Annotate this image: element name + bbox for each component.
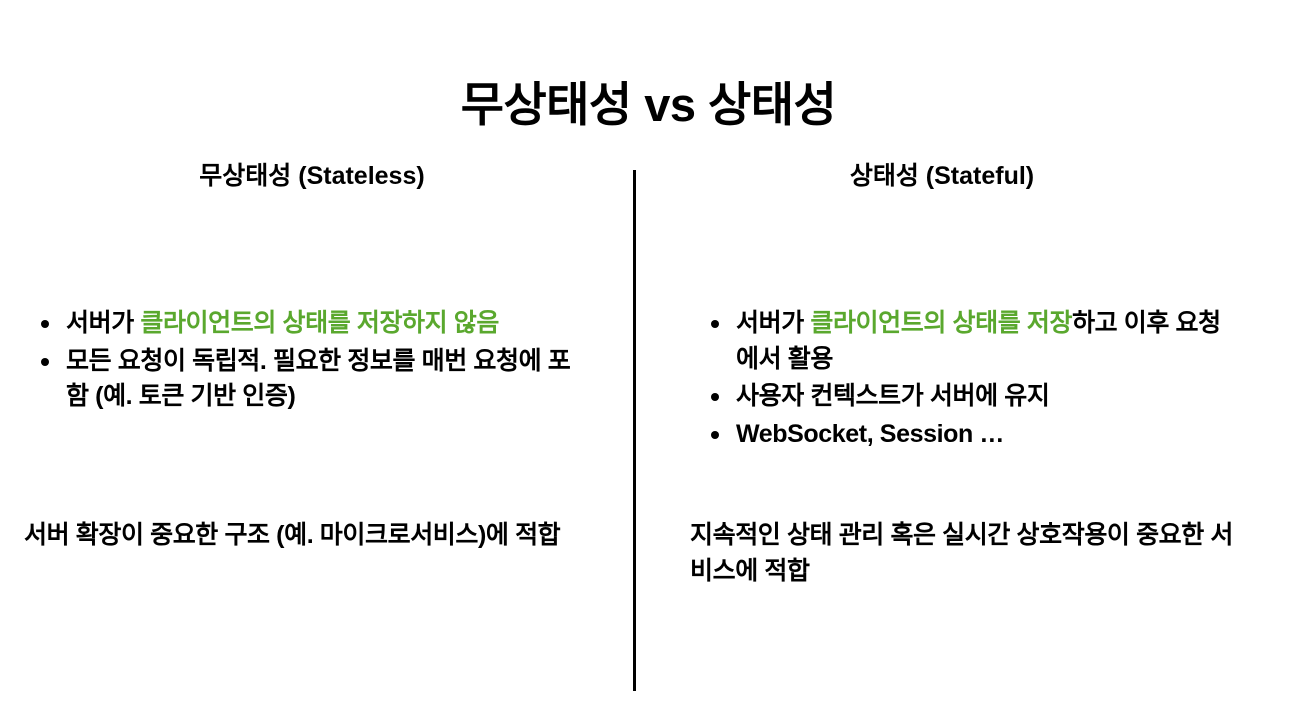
bullet-lead-text: 사용자 컨텍스트가 서버에 유지 [736,382,1049,410]
comparison-columns: 무상태성 (Stateless) 서버가 클라이언트의 상태를 저장하지 않음 … [0,160,1297,708]
page-title: 무상태성 vs 상태성 [0,77,1297,133]
bullet-highlight-text: 클라이언트의 상태를 저장 [810,309,1072,337]
bullet-lead-text: 모든 요청이 독립적. 필요한 정보를 매번 요청에 포함 (예. 토큰 기반 … [66,347,570,411]
column-stateful: 상태성 (Stateful) 서버가 클라이언트의 상태를 저장하고 이후 요청… [668,160,1268,708]
bullet-list-stateful: 서버가 클라이언트의 상태를 저장하고 이후 요청에서 활용 사용자 컨텍스트가… [668,306,1228,454]
slide-canvas: 무상태성 vs 상태성 무상태성 (Stateless) 서버가 클라이언트의 … [0,0,1297,708]
list-item: 사용자 컨텍스트가 서버에 유지 [668,379,1228,415]
closing-statement-stateful: 지속적인 상태 관리 혹은 실시간 상호작용이 중요한 서비스에 적합 [690,518,1240,589]
column-header-stateful: 상태성 (Stateful) [668,160,1268,193]
bullet-lead-text: 서버가 [736,309,810,337]
list-item: 서버가 클라이언트의 상태를 저장하고 이후 요청에서 활용 [668,306,1228,377]
column-header-stateless: 무상태성 (Stateless) [20,160,620,193]
list-item: 모든 요청이 독립적. 필요한 정보를 매번 요청에 포함 (예. 토큰 기반 … [20,344,580,415]
list-item: 서버가 클라이언트의 상태를 저장하지 않음 [20,306,580,342]
bullet-lead-text: 서버가 [66,309,140,337]
bullet-list-stateless: 서버가 클라이언트의 상태를 저장하지 않음 모든 요청이 독립적. 필요한 정… [20,306,580,417]
bullet-highlight-text: 클라이언트의 상태를 저장하지 않음 [140,309,499,337]
column-stateless: 무상태성 (Stateless) 서버가 클라이언트의 상태를 저장하지 않음 … [20,160,620,708]
bullet-lead-text: WebSocket, Session … [736,420,1004,448]
list-item: WebSocket, Session … [668,417,1228,453]
closing-statement-stateless: 서버 확장이 중요한 구조 (예. 마이크로서비스)에 적합 [24,518,584,554]
